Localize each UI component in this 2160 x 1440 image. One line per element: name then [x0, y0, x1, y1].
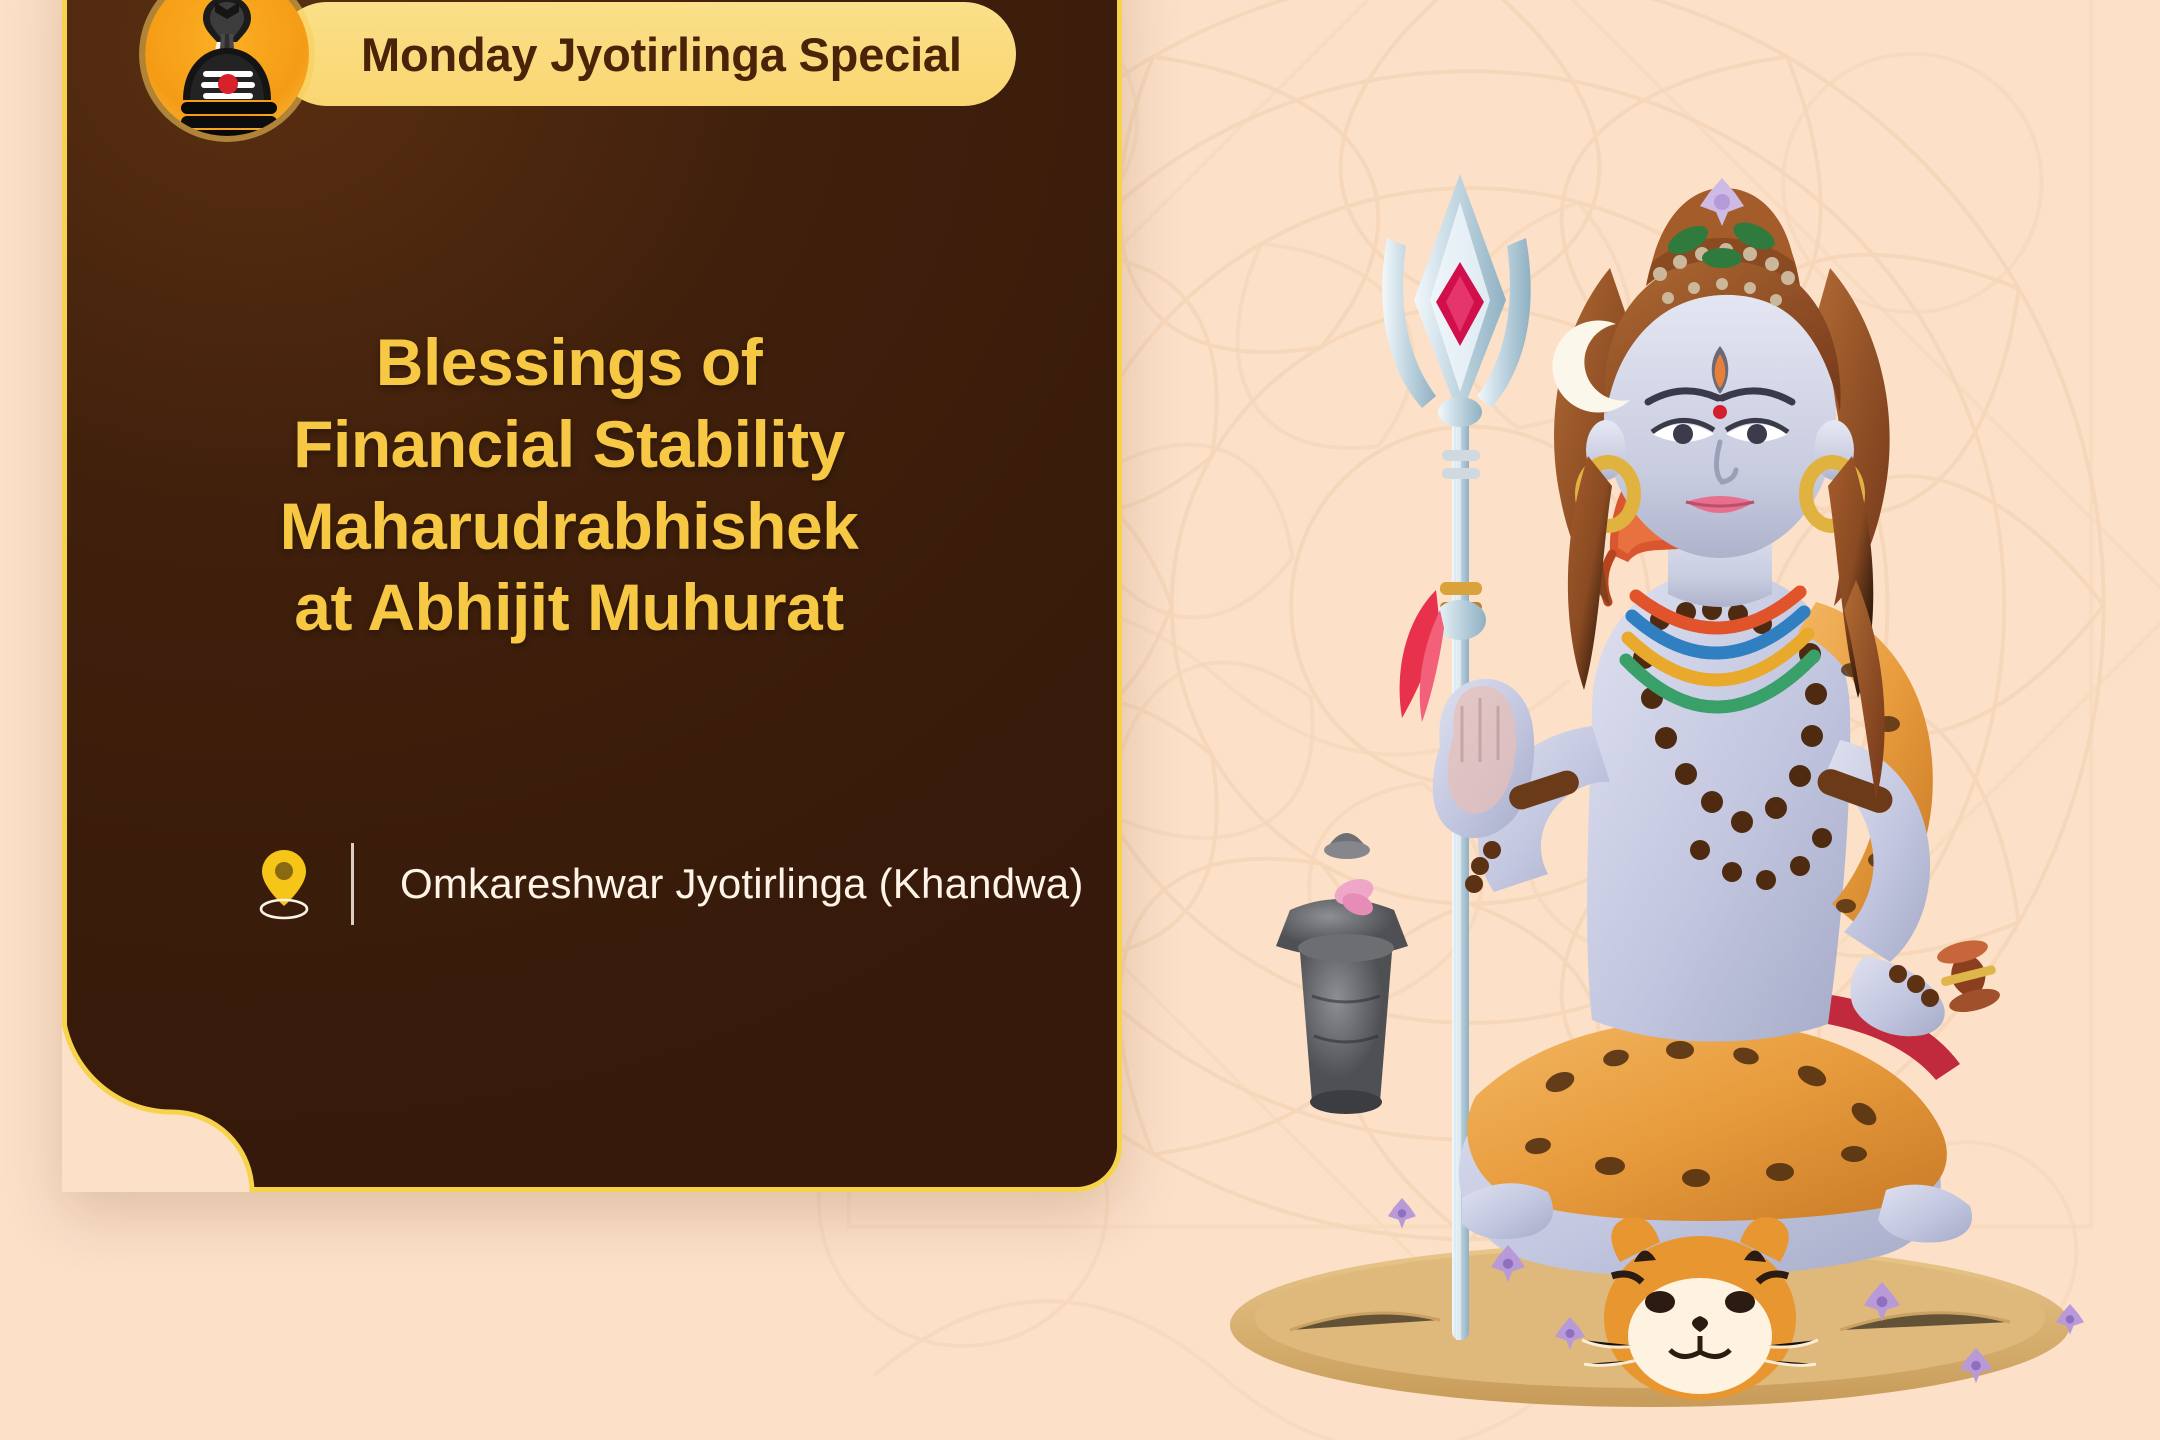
shiva-body	[1433, 178, 2004, 1277]
headline-line-3: Maharudrabhishek	[67, 486, 1071, 568]
shiva-head	[1552, 178, 1889, 800]
ground-mat	[1230, 1243, 2070, 1407]
cobra-icon	[1604, 446, 1728, 602]
shiva-lingam-icon	[145, 0, 309, 136]
damaru-drum	[1933, 935, 2004, 1016]
badge-pill[interactable]: Monday Jyotirlinga Special	[275, 2, 1016, 106]
info-card: Monday Jyotirlinga Special Blessings of …	[62, 0, 1122, 1192]
tiger-head	[1582, 1217, 1818, 1400]
badge-label: Monday Jyotirlinga Special	[361, 27, 962, 82]
headline: Blessings of Financial Stability Maharud…	[67, 322, 1071, 649]
kalash-pot	[1276, 833, 1408, 1114]
headline-line-1: Blessings of	[67, 322, 1071, 404]
trishul-icon	[1382, 174, 1530, 1340]
headline-line-4: at Abhijit Muhurat	[67, 567, 1071, 649]
lord-shiva-illustration	[1140, 150, 2150, 1440]
banner-stage: Monday Jyotirlinga Special Blessings of …	[0, 0, 2160, 1440]
headline-line-2: Financial Stability	[67, 404, 1071, 486]
badge-row: Monday Jyotirlinga Special	[145, 0, 1016, 138]
flower-decorations	[1388, 1198, 2084, 1383]
location-row: Omkareshwar Jyotirlinga (Khandwa)	[253, 843, 1084, 925]
location-text: Omkareshwar Jyotirlinga (Khandwa)	[400, 860, 1084, 908]
map-pin-icon	[253, 846, 315, 922]
rudraksha-malas	[1633, 600, 1832, 890]
location-divider	[351, 843, 354, 925]
